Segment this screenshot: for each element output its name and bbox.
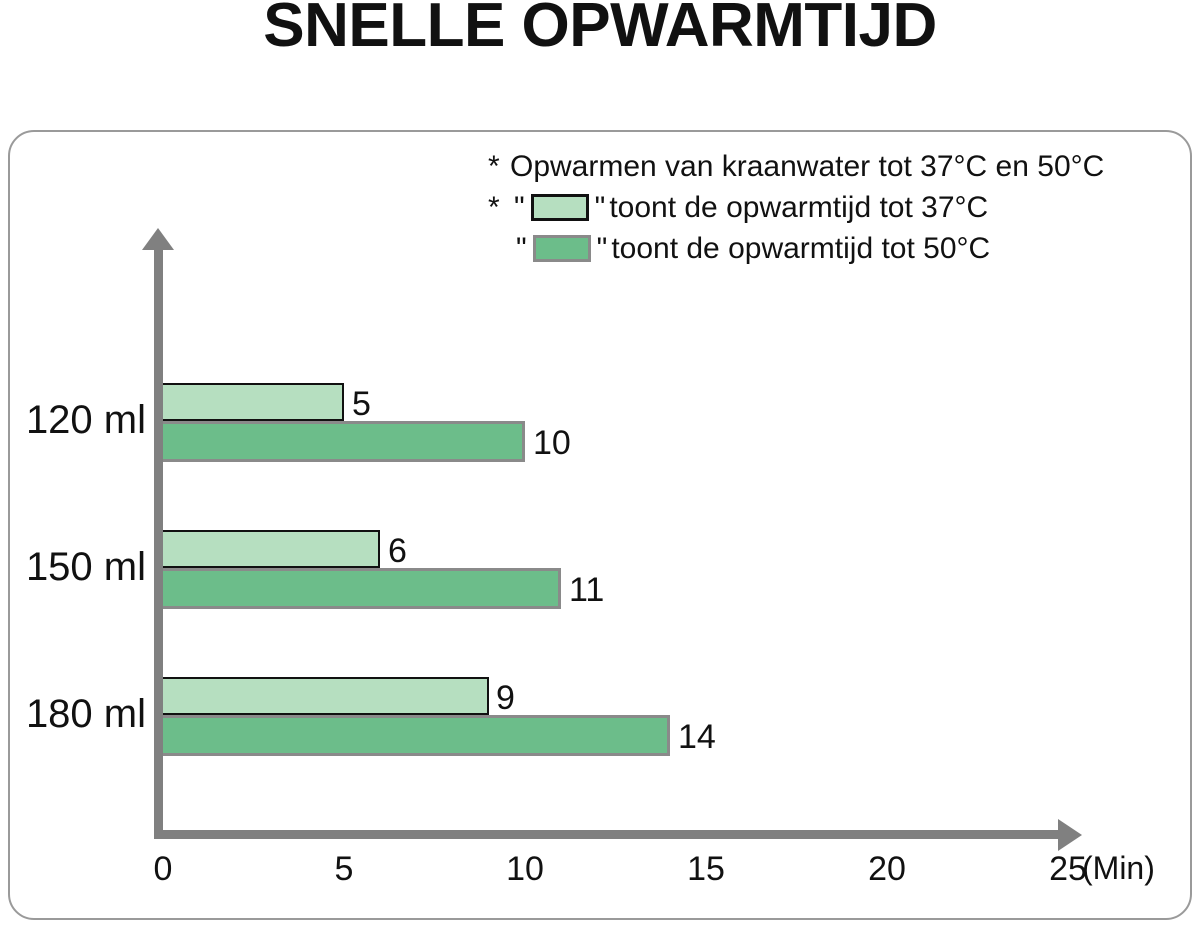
y-axis-line bbox=[154, 244, 163, 838]
bar-value-120ml-50c: 10 bbox=[533, 424, 571, 463]
x-tick-15: 15 bbox=[666, 850, 746, 889]
plot-area: 120 ml 150 ml 180 ml 5 10 6 11 9 14 0 5 … bbox=[10, 132, 1194, 922]
bar-value-120ml-37c: 5 bbox=[352, 385, 371, 424]
bar-180ml-50c bbox=[163, 715, 670, 756]
bar-value-150ml-50c: 11 bbox=[569, 571, 604, 610]
x-axis-unit-label: (Min) bbox=[1082, 850, 1155, 887]
x-axis-line bbox=[154, 830, 1062, 839]
bar-120ml-37c bbox=[163, 383, 344, 421]
bar-180ml-37c bbox=[163, 677, 489, 715]
category-label-180ml: 180 ml bbox=[10, 692, 146, 737]
bar-value-180ml-50c: 14 bbox=[678, 718, 716, 757]
x-tick-20: 20 bbox=[847, 850, 927, 889]
bar-value-150ml-37c: 6 bbox=[388, 532, 407, 571]
bar-120ml-50c bbox=[163, 421, 525, 462]
chart-card: * Opwarmen van kraanwater tot 37°C en 50… bbox=[8, 130, 1192, 920]
y-axis-arrow-icon bbox=[142, 228, 174, 250]
x-tick-10: 10 bbox=[485, 850, 565, 889]
category-label-120ml: 120 ml bbox=[10, 398, 146, 443]
x-axis-arrow-icon bbox=[1058, 819, 1082, 851]
x-tick-5: 5 bbox=[304, 850, 384, 889]
page-title: SNELLE OPWARMTIJD bbox=[0, 0, 1200, 62]
bar-value-180ml-37c: 9 bbox=[496, 679, 515, 718]
x-tick-0: 0 bbox=[123, 850, 203, 889]
bar-150ml-37c bbox=[163, 530, 380, 568]
bar-150ml-50c bbox=[163, 568, 561, 609]
category-label-150ml: 150 ml bbox=[10, 545, 146, 590]
